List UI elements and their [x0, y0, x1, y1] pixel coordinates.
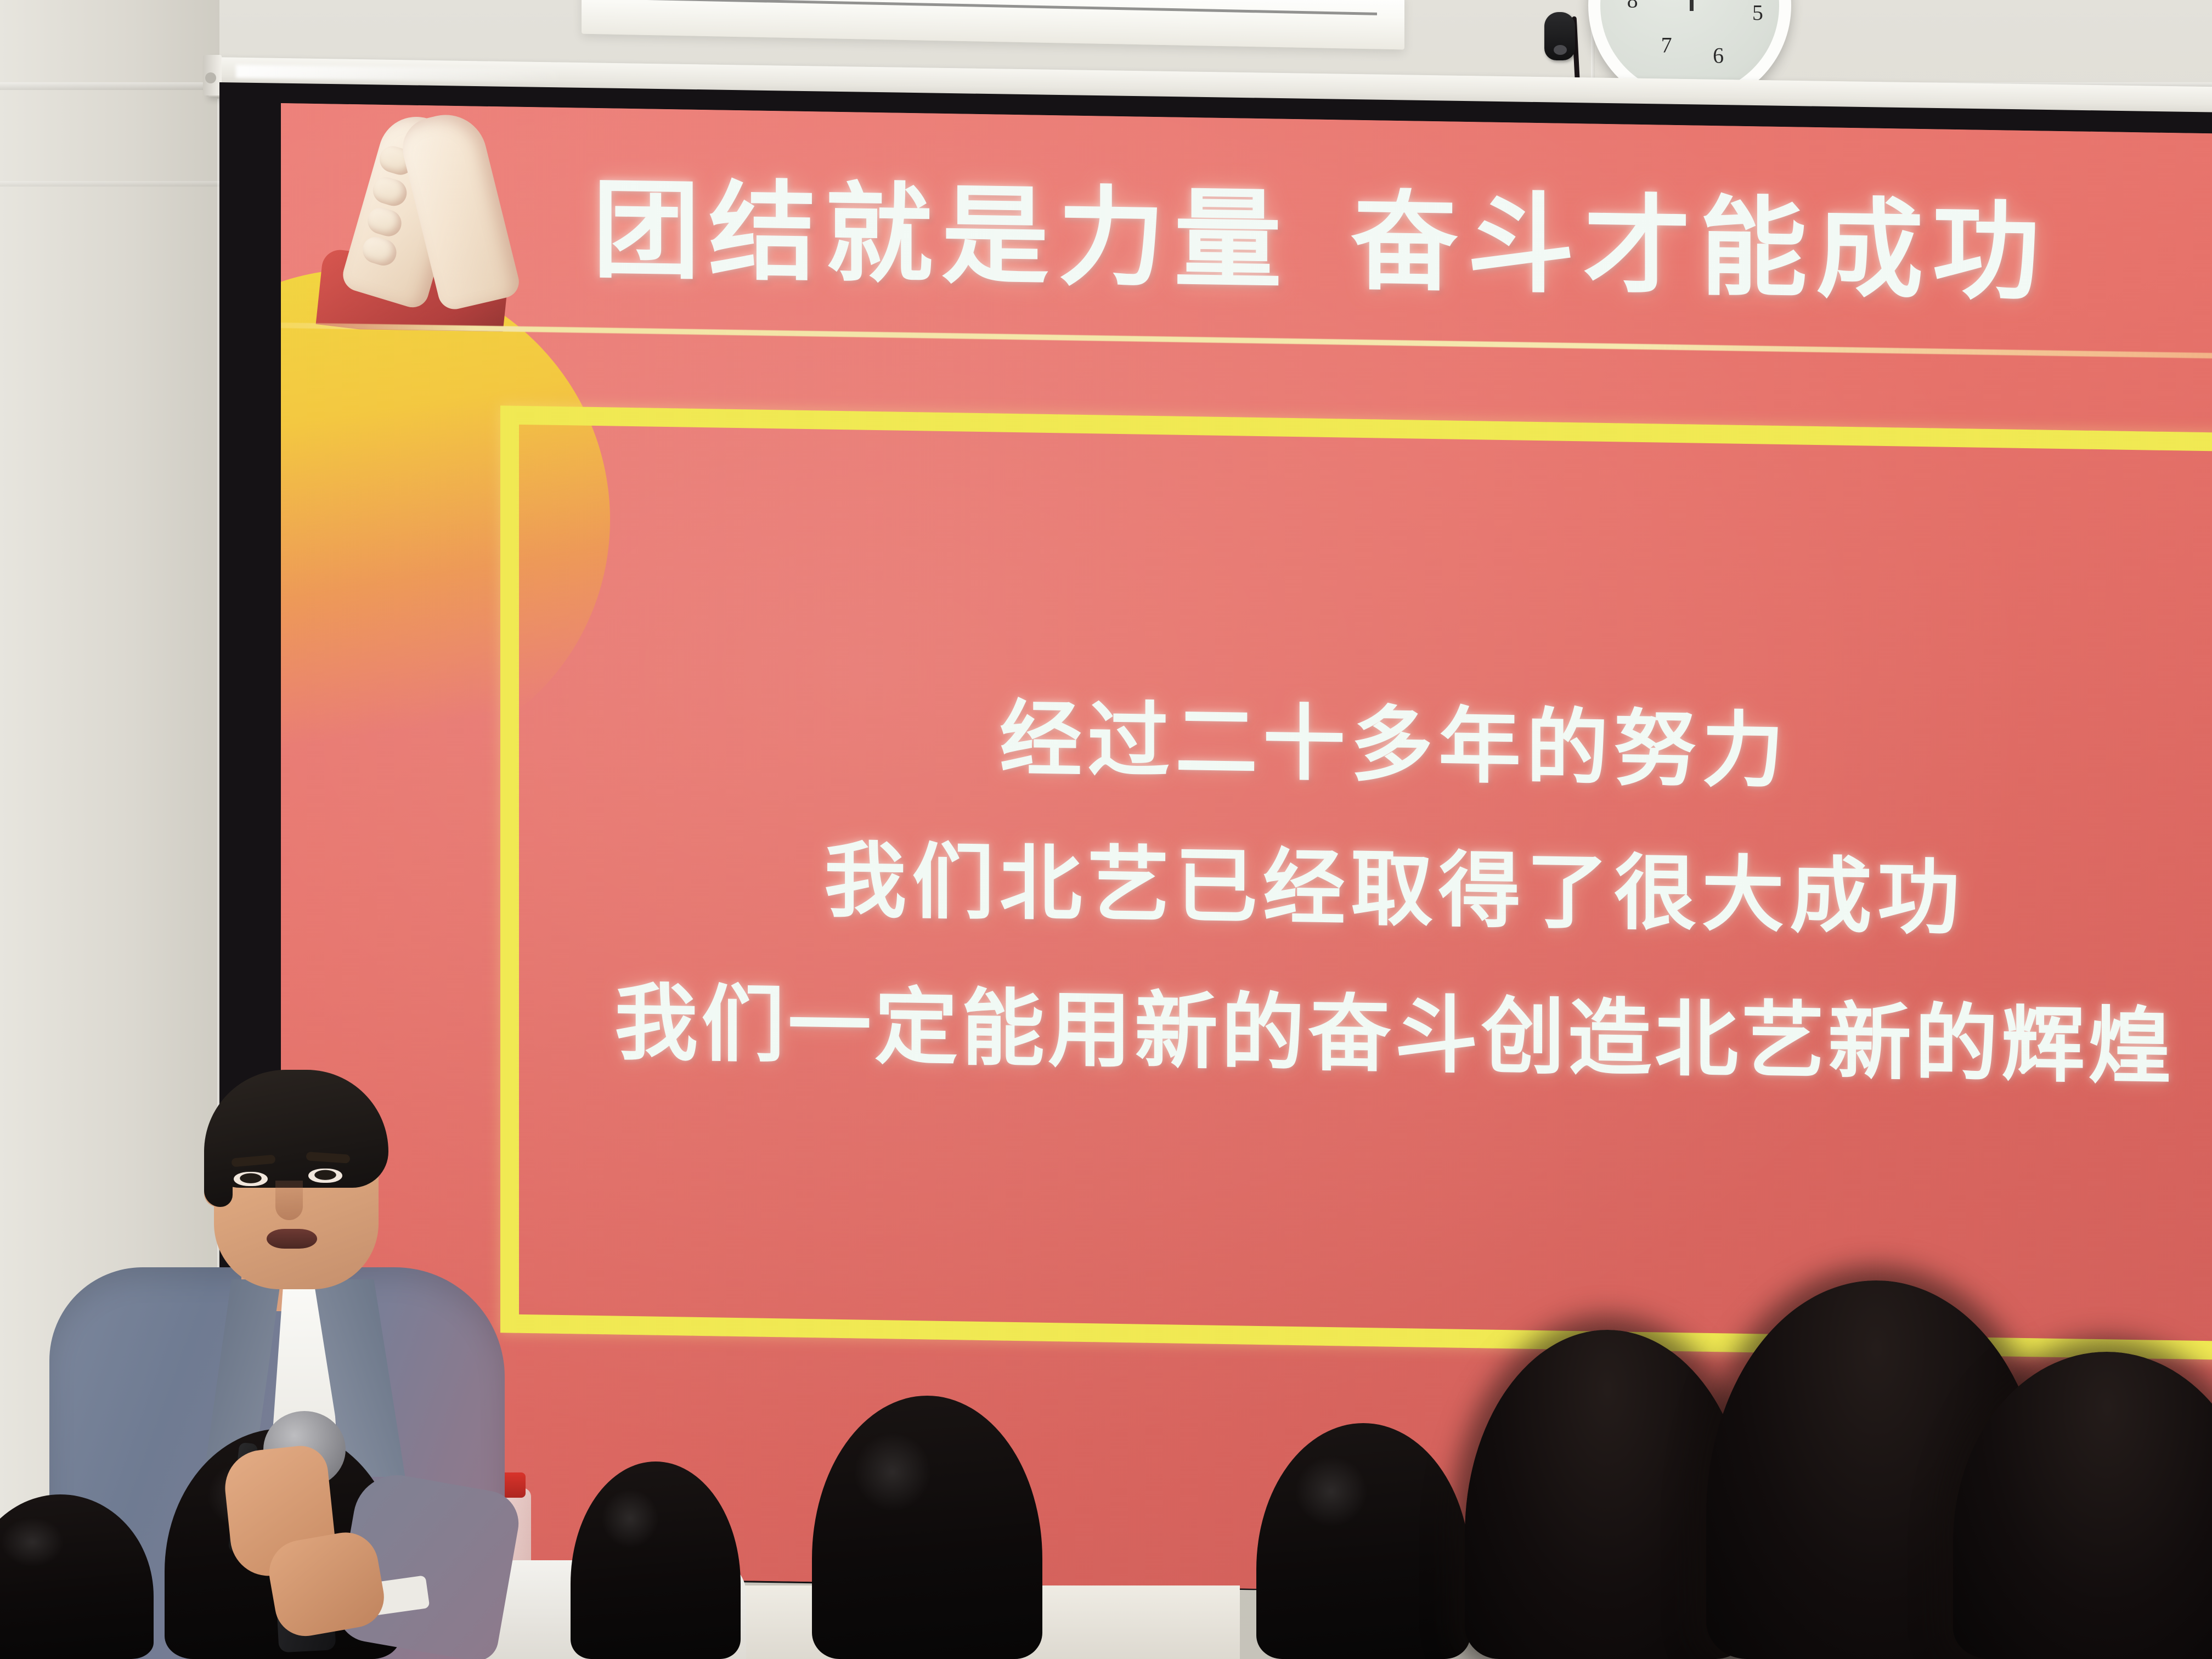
security-camera-lens-icon — [1554, 45, 1567, 55]
presenter-nose — [275, 1181, 303, 1220]
hair-highlight — [1, 1517, 64, 1567]
presenter-eye-right — [308, 1169, 342, 1183]
clock-numeral-5: 5 — [1752, 0, 1763, 26]
hair-highlight — [854, 1432, 932, 1511]
presenter-mouth — [267, 1229, 317, 1249]
presenter-hair-side — [204, 1136, 233, 1207]
clock-numeral-7: 7 — [1661, 32, 1672, 58]
clock-hour-hand — [1690, 0, 1694, 11]
projector-screen-bracket-knob — [205, 72, 216, 83]
hair-highlight — [601, 1489, 659, 1548]
classroom-photo-scene: 4 5 6 7 8 团结就是力量奋斗才能成功 — [0, 0, 2212, 1659]
hair-highlight — [1295, 1456, 1368, 1527]
clock-numeral-8: 8 — [1627, 0, 1638, 13]
clock-numeral-6: 6 — [1713, 43, 1724, 69]
presenter-eye-left — [234, 1172, 268, 1186]
